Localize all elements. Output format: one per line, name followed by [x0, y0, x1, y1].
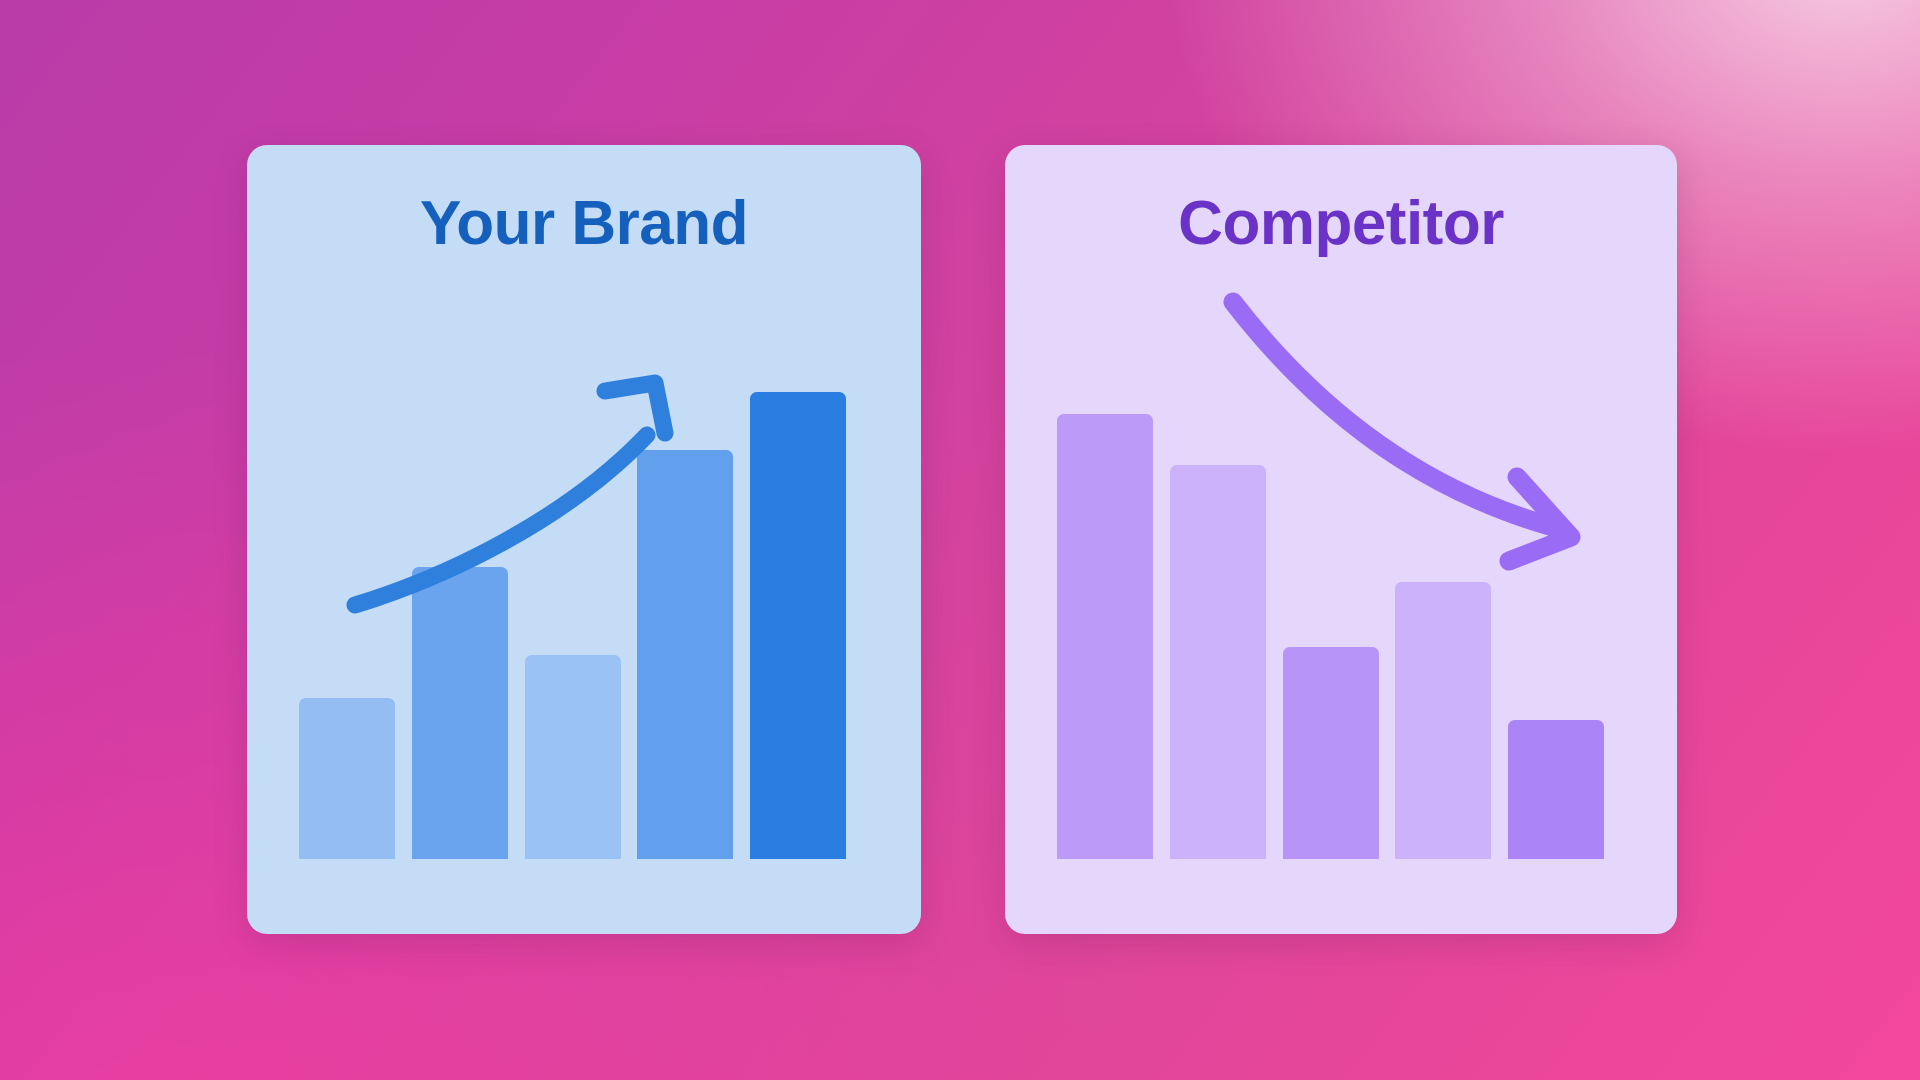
bar-2 — [412, 567, 508, 859]
bar-1 — [1057, 414, 1153, 859]
bar-4 — [1395, 582, 1491, 859]
bar-3 — [525, 655, 621, 859]
bar-5 — [750, 392, 846, 859]
bar-chart-competitor — [1005, 145, 1677, 934]
bar-3 — [1283, 647, 1379, 859]
bar-chart-your-brand — [247, 145, 921, 934]
bar-5 — [1508, 720, 1604, 859]
bar-1 — [299, 698, 395, 859]
bar-2 — [1170, 465, 1266, 859]
card-competitor: Competitor — [1005, 145, 1677, 934]
comparison-graphic: Your Brand Competitor — [0, 0, 1920, 1080]
card-your-brand: Your Brand — [247, 145, 921, 934]
bar-4 — [637, 450, 733, 859]
